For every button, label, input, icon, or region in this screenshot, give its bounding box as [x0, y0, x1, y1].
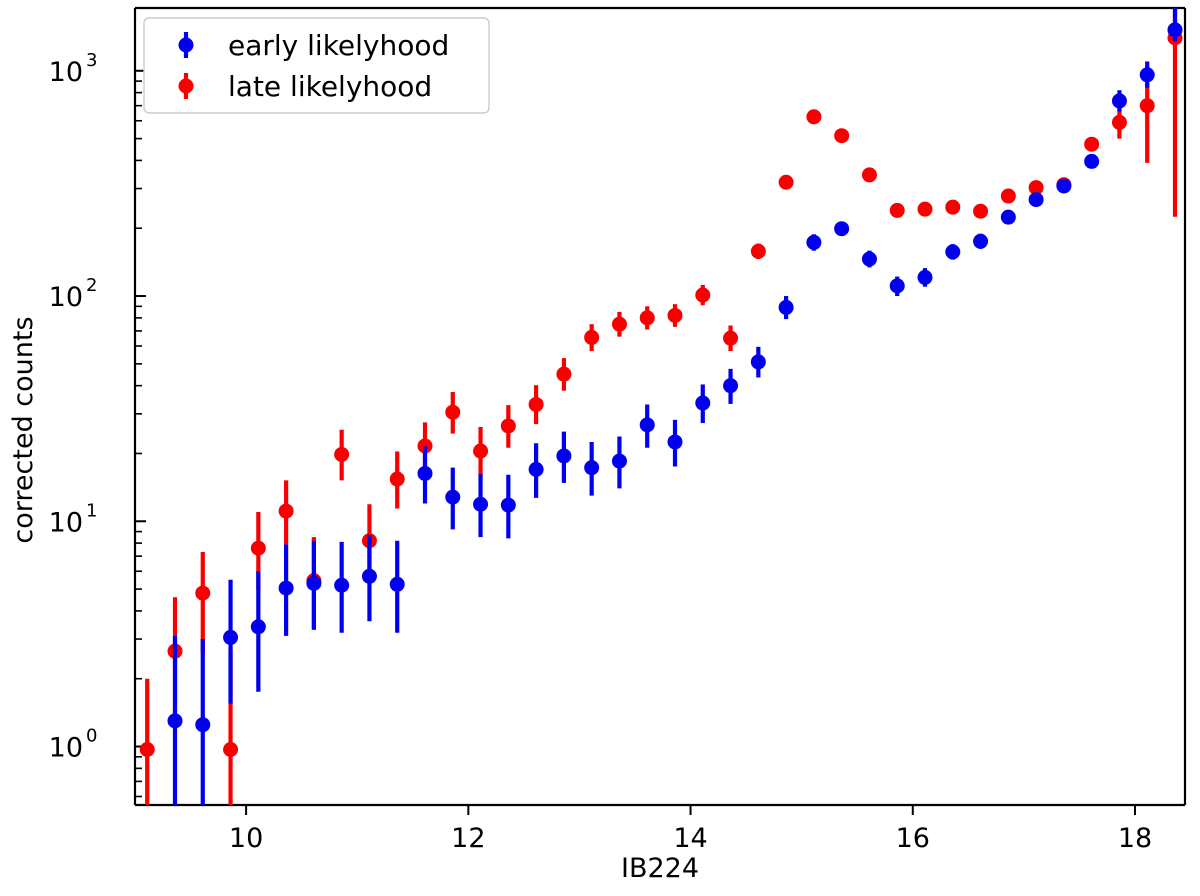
svg-text:10: 10 [49, 282, 83, 313]
svg-text:1: 1 [86, 500, 97, 521]
data-point [529, 397, 544, 412]
data-point [1140, 67, 1155, 82]
data-point [723, 331, 738, 346]
data-point [584, 330, 599, 345]
svg-text:3: 3 [86, 50, 97, 71]
data-point [751, 354, 766, 369]
data-point [862, 252, 877, 267]
legend[interactable]: early likelyhoodlate likelyhood [144, 18, 489, 113]
data-point [334, 447, 349, 462]
legend-label: late likelyhood [228, 70, 432, 103]
svg-text:2: 2 [86, 275, 97, 296]
data-point [251, 619, 266, 634]
x-axis-label: IB224 [621, 853, 699, 884]
data-point [695, 288, 710, 303]
data-point [251, 541, 266, 556]
data-point [862, 167, 877, 182]
data-point [306, 576, 321, 591]
data-point [695, 396, 710, 411]
data-point [1140, 98, 1155, 113]
data-point [1056, 178, 1071, 193]
data-point [390, 577, 405, 592]
legend-label: early likelyhood [228, 29, 449, 62]
data-point [556, 367, 571, 382]
data-point [140, 742, 155, 757]
legend-marker-icon [179, 38, 194, 53]
data-point [612, 454, 627, 469]
data-point [334, 578, 349, 593]
data-point [445, 405, 460, 420]
x-tick-label: 14 [673, 823, 707, 854]
data-point [640, 417, 655, 432]
data-point [945, 244, 960, 259]
data-point [834, 221, 849, 236]
data-point [668, 434, 683, 449]
svg-text:10: 10 [49, 507, 83, 538]
legend-marker-icon [179, 79, 194, 94]
data-point [1112, 115, 1127, 130]
data-point [473, 444, 488, 459]
data-point [279, 504, 294, 519]
figure-canvas: 100101102103 1012141618 IB224 corrected … [0, 0, 1200, 896]
data-point [501, 418, 516, 433]
data-point [195, 586, 210, 601]
data-point [279, 581, 294, 596]
data-point [529, 462, 544, 477]
data-point [1084, 137, 1099, 152]
data-point [918, 202, 933, 217]
data-point [779, 175, 794, 190]
data-point [723, 378, 738, 393]
x-tick-label: 12 [451, 823, 485, 854]
svg-text:10: 10 [49, 57, 83, 88]
data-point [501, 498, 516, 513]
svg-text:0: 0 [86, 726, 97, 747]
scatter-plot: 100101102103 1012141618 IB224 corrected … [0, 0, 1200, 896]
data-point [223, 630, 238, 645]
x-tick-label: 10 [229, 823, 263, 854]
data-point [168, 713, 183, 728]
data-point [973, 204, 988, 219]
data-point [362, 569, 377, 584]
data-point [973, 234, 988, 249]
data-point [1084, 154, 1099, 169]
data-point [806, 235, 821, 250]
data-point [945, 200, 960, 215]
data-point [834, 128, 849, 143]
data-point [890, 278, 905, 293]
data-point [390, 472, 405, 487]
data-point [668, 308, 683, 323]
x-tick-label: 16 [896, 823, 930, 854]
data-point [806, 109, 821, 124]
data-point [445, 490, 460, 505]
data-point [890, 203, 905, 218]
x-tick-label: 18 [1118, 823, 1152, 854]
data-point [223, 742, 238, 757]
data-point [1168, 22, 1183, 37]
data-point [612, 317, 627, 332]
data-point [918, 270, 933, 285]
data-point [556, 448, 571, 463]
data-point [1112, 93, 1127, 108]
data-point [195, 717, 210, 732]
data-point [640, 310, 655, 325]
y-axis-label: corrected counts [8, 316, 39, 543]
plot-background [0, 0, 1200, 896]
svg-text:10: 10 [49, 733, 83, 764]
data-point [1001, 210, 1016, 225]
data-point [1029, 192, 1044, 207]
data-point [751, 244, 766, 259]
data-point [418, 466, 433, 481]
data-point [473, 497, 488, 512]
data-point [779, 300, 794, 315]
data-point [584, 460, 599, 475]
data-point [1001, 189, 1016, 204]
